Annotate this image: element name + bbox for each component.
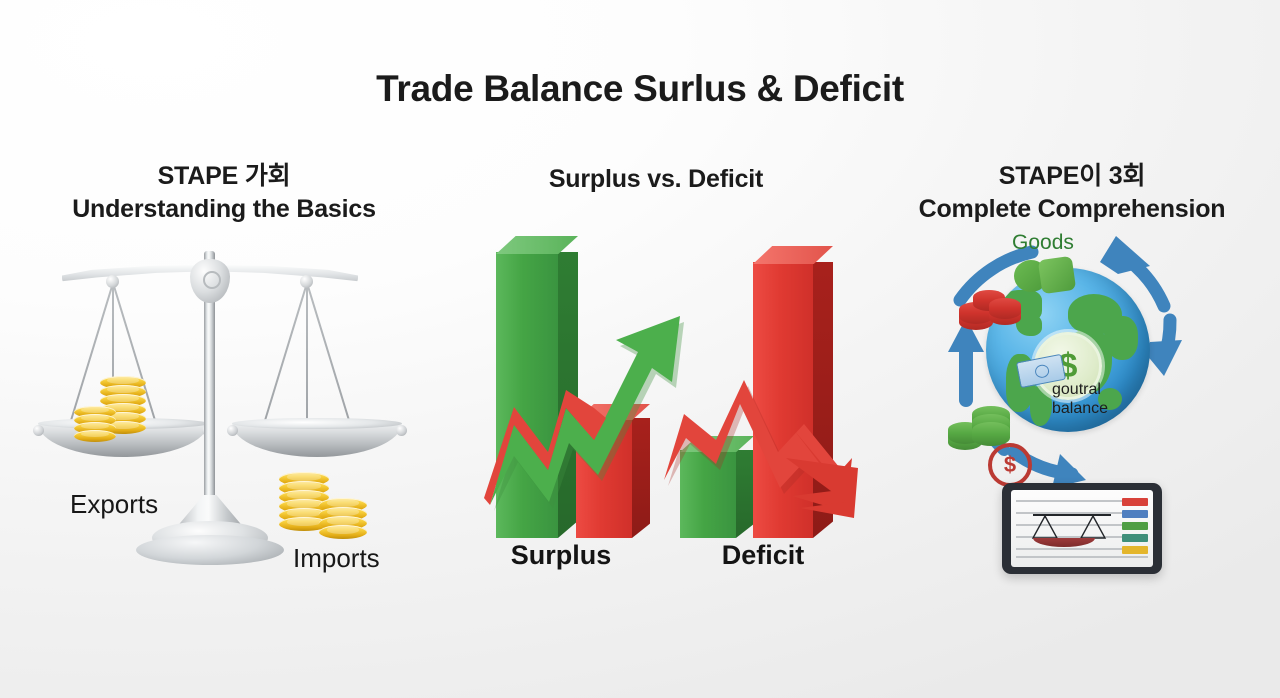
scale-knob	[300, 275, 313, 288]
pan-hanger	[227, 425, 238, 436]
scale-base-lower	[136, 535, 284, 565]
tablet-screen	[1011, 490, 1153, 567]
label-exports: Exports	[70, 489, 158, 520]
globe-trade-cycle-illustration: $ Goods	[864, 0, 1280, 698]
tablet-legend-row	[1122, 498, 1148, 506]
left-heading-line-1: STAPE 가회	[158, 162, 291, 190]
scale-hub	[190, 259, 230, 303]
panel-complete-comprehension: STAPE이 3회 Complete Comprehension	[864, 0, 1280, 698]
label-deficit: Deficit	[688, 540, 838, 571]
pan-hanger	[396, 425, 407, 436]
neutral-label-line-2: balance	[1052, 400, 1108, 417]
scale-pan-right	[232, 423, 402, 457]
tablet-device	[1002, 483, 1162, 574]
infographic-canvas: Trade Balance Surlus & Deficit STAPE 가회 …	[0, 0, 1280, 698]
pan-hanger	[33, 425, 44, 436]
left-panel-heading: STAPE 가회 Understanding the Basics	[0, 160, 468, 227]
tablet-legend-row	[1122, 522, 1148, 530]
scale-string	[306, 283, 308, 429]
trend-arrow-down-icon	[448, 0, 864, 698]
left-heading-line-2: Understanding the Basics	[0, 193, 468, 226]
tablet-legend-row	[1122, 546, 1148, 554]
label-neutral-balance: goutral balance	[1052, 381, 1108, 419]
dollar-circle-icon: $	[988, 443, 1032, 487]
panel-surplus-vs-deficit: Surplus vs. Deficit	[448, 0, 864, 698]
bar-chart-illustration: Surplus	[448, 0, 864, 698]
tablet-legend-row	[1122, 534, 1148, 542]
label-imports: Imports	[293, 543, 380, 574]
scale-string	[263, 283, 308, 425]
label-goods: Goods	[1012, 231, 1074, 255]
scale-knob	[106, 275, 119, 288]
neutral-label-line-1: goutral	[1052, 381, 1101, 398]
tablet-legend-row	[1122, 510, 1148, 518]
panel-understanding-basics: STAPE 가회 Understanding the Basics	[0, 0, 448, 698]
scale-string	[306, 283, 351, 425]
